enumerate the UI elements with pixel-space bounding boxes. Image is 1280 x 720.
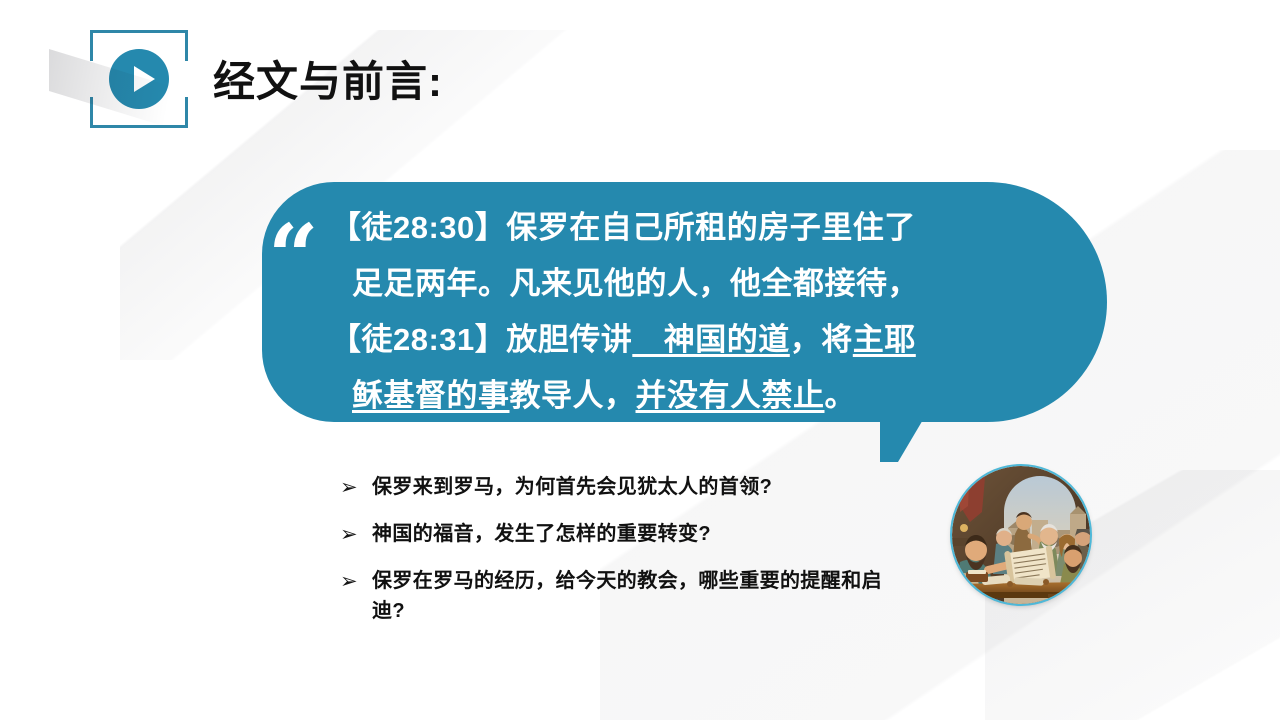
arrow-bullet-icon: ➢ <box>340 566 372 596</box>
quotation-mark-icon: “ <box>268 212 319 300</box>
frame-segment-left-bottom <box>90 97 93 128</box>
paul-teaching-scroll-illustration <box>952 466 1090 604</box>
question-list: ➢保罗来到罗马，为何首先会见犹太人的首领?➢神国的福音，发生了怎样的重要转变?➢… <box>340 472 910 643</box>
quote-underlined-text: 神国的道 <box>632 322 790 357</box>
list-item: ➢保罗在罗马的经历，给今天的教会，哪些重要的提醒和启迪? <box>340 566 910 626</box>
scripture-quote-text: 【徒28:30】保罗在自己所租的房子里住了足足两年。凡来见他的人，他全都接待，【… <box>330 200 1030 424</box>
illustration-svg <box>952 466 1090 604</box>
play-circle-icon[interactable] <box>109 49 169 109</box>
play-badge[interactable] <box>90 30 188 128</box>
arrow-bullet-icon: ➢ <box>340 472 372 502</box>
list-item: ➢神国的福音，发生了怎样的重要转变? <box>340 519 910 549</box>
quote-line: 【徒28:30】保罗在自己所租的房子里住了 <box>330 200 1030 256</box>
quote-line: 【徒28:31】放胆传讲 神国的道，将主耶 <box>330 312 1030 368</box>
frame-segment-right-bottom <box>185 97 188 128</box>
quote-underlined-text: 并没有人禁止 <box>636 378 825 413</box>
question-text: 保罗来到罗马，为何首先会见犹太人的首领? <box>372 472 910 502</box>
frame-segment-right-top <box>185 30 188 61</box>
play-triangle-icon <box>134 66 155 92</box>
frame-segment-bottom <box>90 125 188 128</box>
quote-plain-text: 足足两年。凡来见他的人，他全都接待， <box>352 266 919 301</box>
frame-segment-left-top <box>90 30 93 61</box>
question-text: 保罗在罗马的经历，给今天的教会，哪些重要的提醒和启迪? <box>372 566 910 626</box>
quote-plain-text: 。 <box>825 378 857 413</box>
quote-plain-text: 教导人， <box>510 378 636 413</box>
quote-plain-text: 【徒28:31】放胆传讲 <box>330 322 632 357</box>
quote-bubble-tail <box>880 418 924 462</box>
slide-header: 经文与前言: <box>0 0 1280 150</box>
quote-underlined-text: 主耶 <box>853 322 916 357</box>
quote-line: 足足两年。凡来见他的人，他全都接待， <box>330 256 1030 312</box>
list-item: ➢保罗来到罗马，为何首先会见犹太人的首领? <box>340 472 910 502</box>
question-text: 神国的福音，发生了怎样的重要转变? <box>372 519 910 549</box>
quote-line: 稣基督的事教导人，并没有人禁止。 <box>330 368 1030 424</box>
frame-segment-top <box>90 30 188 33</box>
quote-plain-text: ，将 <box>790 322 853 357</box>
page-title: 经文与前言: <box>213 48 443 109</box>
slide-canvas: 经文与前言: “ 【徒28:30】保罗在自己所租的房子里住了足足两年。凡来见他的… <box>0 0 1280 720</box>
quote-underlined-text: 稣基督的事 <box>352 378 510 413</box>
arrow-bullet-icon: ➢ <box>340 519 372 549</box>
quote-plain-text: 【徒28:30】保罗在自己所租的房子里住了 <box>330 210 916 245</box>
